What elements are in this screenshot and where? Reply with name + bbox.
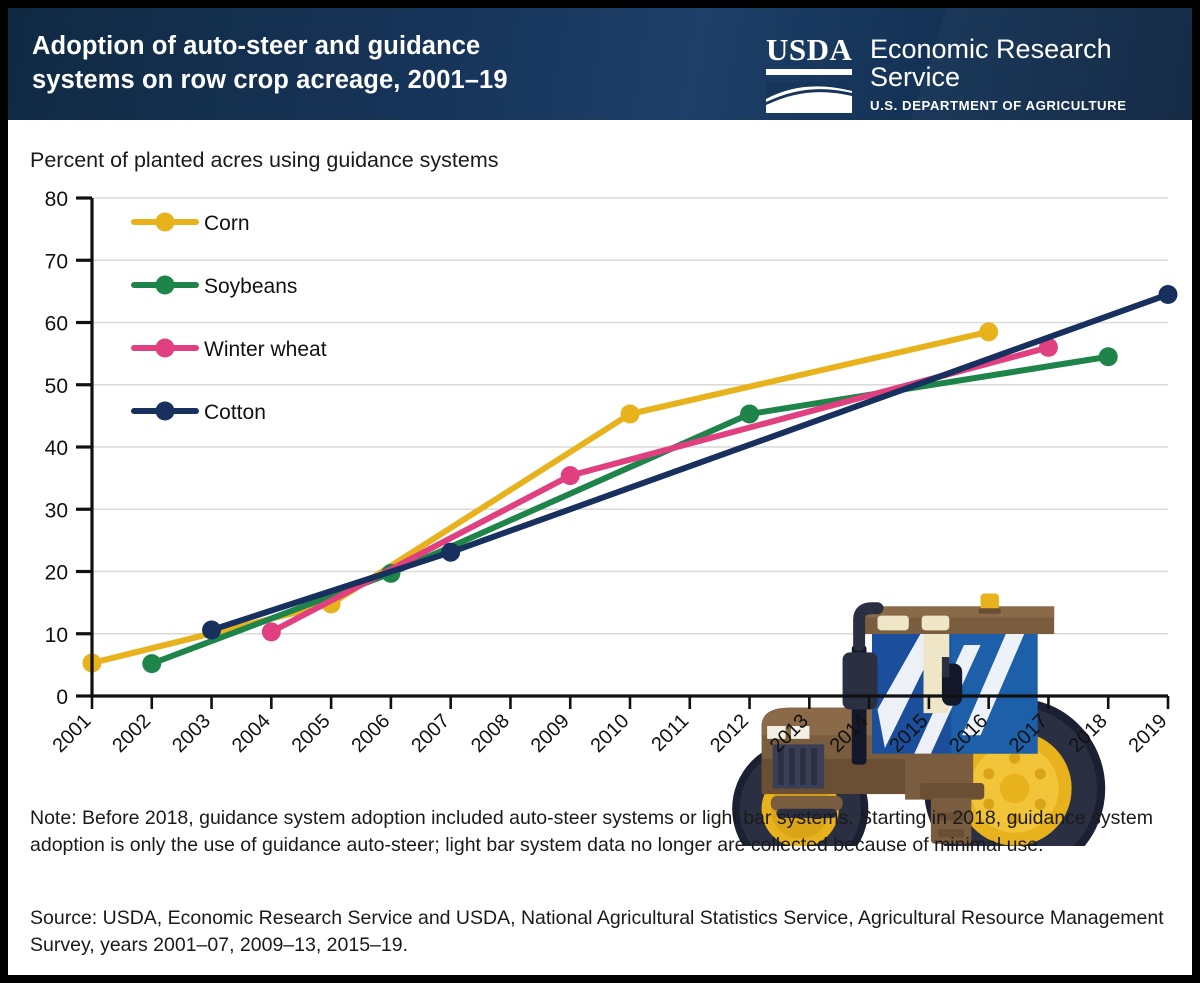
usda-field-swoosh-icon: [766, 69, 852, 113]
x-tick-2008: 2008: [467, 710, 514, 757]
data-point: [1159, 285, 1178, 304]
line-chart: 01020304050607080 2001200220032004200520…: [8, 186, 1192, 846]
y-tick-40: 40: [45, 437, 68, 460]
chart-legend: CornSoybeansWinter wheatCotton: [134, 212, 327, 424]
chart-note: Note: Before 2018, guidance system adopt…: [30, 805, 1178, 859]
data-point: [979, 322, 998, 341]
y-tick-60: 60: [45, 313, 68, 336]
image-frame: Adoption of auto-steer and guidance syst…: [0, 0, 1200, 983]
y-tick-70: 70: [45, 250, 68, 273]
data-point: [202, 621, 221, 640]
chart-plot-area: 01020304050607080 2001200220032004200520…: [8, 186, 1192, 846]
y-tick-10: 10: [45, 624, 68, 647]
legend-label: Winter wheat: [204, 338, 327, 361]
data-point: [441, 543, 460, 562]
series-cotton: [202, 285, 1177, 640]
y-axis-tick-labels: 01020304050607080: [45, 188, 68, 709]
x-tick-2004: 2004: [228, 710, 275, 757]
legend-label: Corn: [204, 212, 250, 235]
department-name: U.S. DEPARTMENT OF AGRICULTURE: [870, 98, 1192, 113]
legend-marker: [156, 213, 175, 232]
y-tick-20: 20: [45, 562, 68, 585]
y-tick-80: 80: [45, 188, 68, 211]
data-point: [740, 405, 759, 424]
legend-marker: [156, 402, 175, 421]
x-tick-2012: 2012: [706, 710, 753, 757]
legend-item-corn[interactable]: Corn: [134, 212, 250, 235]
x-tick-2002: 2002: [108, 710, 155, 757]
x-tick-2001: 2001: [49, 710, 96, 757]
data-point: [1099, 347, 1118, 366]
legend-label: Soybeans: [204, 275, 297, 298]
chart-source: Source: USDA, Economic Research Service …: [30, 905, 1178, 959]
y-tick-50: 50: [45, 375, 68, 398]
legend-label: Cotton: [204, 401, 266, 424]
data-point: [561, 466, 580, 485]
data-point: [621, 405, 640, 424]
ers-text-block: Economic Research Service U.S. DEPARTMEN…: [870, 34, 1192, 113]
x-tick-2006: 2006: [347, 710, 394, 757]
x-tick-2007: 2007: [407, 710, 454, 757]
page-title: Adoption of auto-steer and guidance syst…: [32, 30, 692, 98]
x-tick-2009: 2009: [527, 710, 574, 757]
x-tick-2005: 2005: [288, 710, 335, 757]
legend-item-cotton[interactable]: Cotton: [134, 401, 266, 424]
usda-wordmark: USDA: [766, 34, 852, 65]
legend-marker: [156, 339, 175, 358]
legend-item-winter-wheat[interactable]: Winter wheat: [134, 338, 327, 361]
agency-name: Economic Research Service: [870, 35, 1192, 92]
y-tick-30: 30: [45, 499, 68, 522]
y-tick-0: 0: [56, 686, 68, 709]
x-tick-2019: 2019: [1125, 710, 1172, 757]
chart-panel: Percent of planted acres using guidance …: [8, 120, 1192, 975]
data-point: [262, 622, 281, 641]
data-point: [142, 654, 161, 673]
usda-ers-logo: USDA Economic Research Service U.S. DEPA…: [766, 34, 1192, 118]
x-tick-2010: 2010: [587, 710, 634, 757]
x-tick-2003: 2003: [168, 710, 215, 757]
legend-item-soybeans[interactable]: Soybeans: [134, 275, 297, 298]
y-axis-title: Percent of planted acres using guidance …: [30, 148, 499, 173]
legend-marker: [156, 276, 175, 295]
chart-header: Adoption of auto-steer and guidance syst…: [8, 8, 1192, 120]
x-tick-2011: 2011: [647, 710, 693, 756]
usda-logo-mark: USDA: [766, 34, 852, 118]
